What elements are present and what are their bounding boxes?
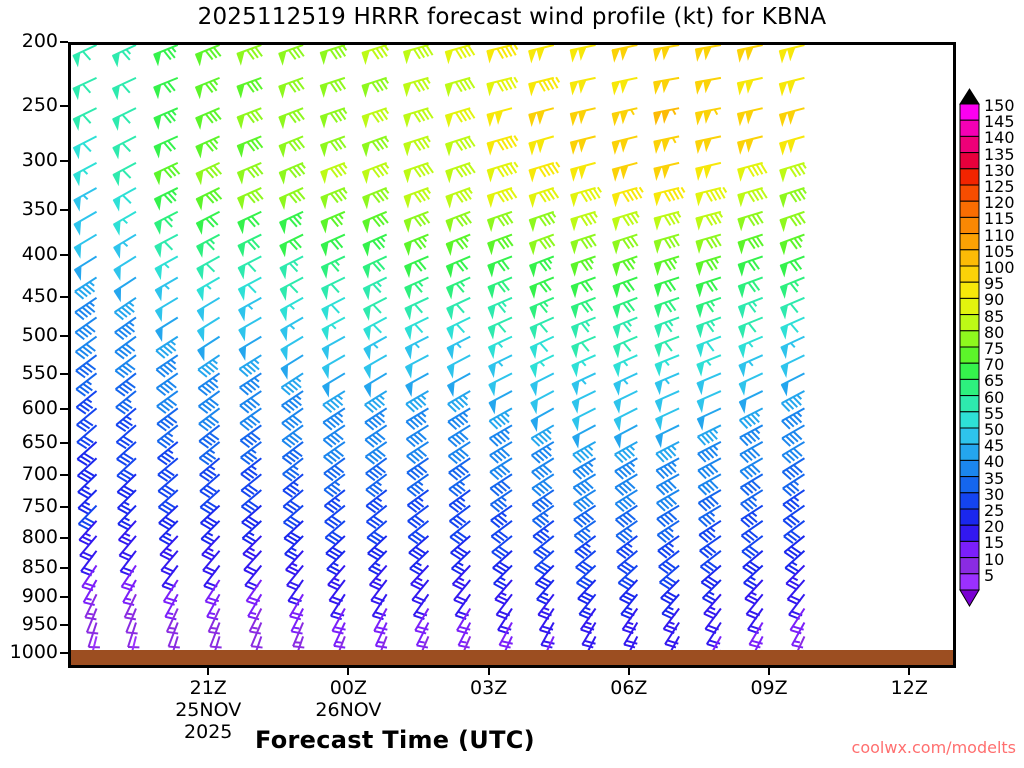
colorbar-under-arrow — [960, 590, 979, 606]
wind-barb — [239, 277, 262, 299]
colorbar-swatch — [960, 396, 979, 412]
wind-barb — [487, 188, 516, 206]
y-tick-mark — [60, 624, 68, 626]
wind-barb — [572, 391, 595, 412]
wind-barb — [529, 136, 554, 154]
y-tick-mark — [60, 567, 68, 569]
wind-barb — [196, 163, 221, 184]
wind-barb — [570, 78, 595, 94]
x-tick-label: 21Z — [190, 677, 227, 699]
wind-barb — [363, 188, 389, 208]
wind-barb — [237, 108, 262, 127]
wind-barb — [320, 45, 346, 63]
wind-barb — [238, 235, 261, 256]
wind-barb — [780, 188, 806, 206]
wind-barb — [612, 136, 637, 153]
wind-barb — [529, 45, 554, 62]
wind-barb — [239, 298, 262, 320]
wind-barb — [696, 256, 721, 274]
wind-barb — [655, 355, 679, 375]
wind-barb — [779, 45, 804, 62]
wind-barb — [237, 136, 262, 156]
y-tick-label: 600 — [22, 397, 58, 419]
colorbar-swatch — [960, 477, 979, 493]
wind-barb — [197, 256, 220, 278]
wind-barb — [613, 317, 637, 337]
wind-barb — [705, 608, 721, 633]
wind-barb — [238, 256, 261, 277]
wind-barb — [780, 256, 804, 275]
wind-barb — [156, 298, 178, 321]
y-tick-mark — [60, 105, 68, 107]
wind-barb — [737, 78, 762, 94]
y-tick-mark — [60, 408, 68, 410]
wind-barb — [362, 78, 388, 96]
wind-barb — [571, 163, 596, 180]
wind-barb — [405, 337, 428, 358]
wind-barb — [613, 235, 638, 253]
colorbar-swatch — [960, 574, 979, 590]
wind-profile-chart: 2025112519 HRRR forecast wind profile (k… — [0, 0, 1024, 768]
wind-barb — [74, 136, 97, 157]
wind-barb — [76, 337, 97, 359]
wind-barb — [655, 337, 679, 356]
x-axis-label: Forecast Time (UTC) — [0, 726, 790, 754]
colorbar-swatch — [960, 363, 979, 379]
wind-barb — [572, 317, 596, 337]
y-tick-label: 800 — [22, 526, 58, 548]
wind-barb — [364, 317, 387, 339]
wind-barb — [279, 136, 304, 156]
wind-barb — [613, 256, 637, 275]
wind-barb — [654, 212, 680, 229]
wind-barb — [363, 277, 386, 298]
wind-barb — [738, 256, 762, 275]
wind-barb — [406, 355, 429, 377]
wind-barb — [447, 355, 470, 377]
wind-barb-field — [71, 45, 953, 665]
wind-barb — [655, 317, 679, 336]
wind-barb — [281, 337, 303, 360]
wind-barb — [445, 78, 474, 96]
wind-barb — [530, 277, 554, 297]
wind-barb — [155, 277, 177, 299]
wind-barb — [198, 317, 220, 340]
wind-barb — [531, 373, 554, 394]
colorbar-swatch — [960, 460, 979, 476]
wind-barb — [571, 256, 595, 275]
wind-barb — [738, 163, 767, 180]
wind-barb — [405, 277, 429, 297]
wind-barb — [487, 136, 517, 154]
wind-barb — [404, 108, 433, 126]
wind-barb — [488, 256, 512, 275]
wind-barb — [487, 162, 517, 181]
x-tick-mark — [347, 668, 349, 675]
x-tick-label: 09Z — [750, 677, 787, 699]
wind-barb — [279, 108, 304, 127]
colorbar-swatch — [960, 331, 979, 347]
wind-barb — [320, 108, 346, 127]
wind-barb — [448, 391, 470, 412]
wind-barb — [198, 355, 219, 377]
wind-barb — [654, 256, 679, 274]
y-tick-label: 700 — [22, 463, 58, 485]
wind-barb — [196, 188, 221, 209]
wind-barb — [154, 163, 179, 184]
wind-barb — [571, 298, 595, 317]
wind-barb — [362, 45, 388, 63]
wind-barb — [612, 163, 637, 180]
y-tick-mark — [60, 160, 68, 162]
wind-barb — [489, 355, 512, 376]
wind-barb — [239, 317, 261, 339]
colorbar-swatch — [960, 315, 979, 331]
colorbar-swatch — [960, 153, 979, 169]
wind-barb — [198, 373, 219, 395]
wind-barb — [405, 235, 429, 255]
y-tick-label: 500 — [22, 324, 58, 346]
y-tick-label: 1000 — [10, 641, 58, 663]
wind-barb — [363, 256, 386, 277]
wind-barb — [654, 163, 679, 179]
wind-barb — [571, 235, 596, 253]
wind-barb — [446, 256, 470, 276]
y-tick-label: 450 — [22, 285, 58, 307]
y-tick-mark — [60, 652, 68, 654]
wind-barb — [489, 373, 512, 394]
wind-barb — [738, 108, 763, 124]
wind-barb — [114, 235, 136, 258]
y-tick-label: 750 — [22, 495, 58, 517]
colorbar-swatch — [960, 444, 979, 460]
x-tick-mark — [768, 668, 770, 675]
wind-barb — [698, 442, 721, 462]
y-tick-mark — [60, 596, 68, 598]
wind-barb — [155, 212, 178, 233]
wind-barb — [76, 355, 97, 377]
wind-barb — [571, 212, 597, 230]
wind-barb — [738, 212, 763, 230]
y-tick-mark — [60, 335, 68, 337]
wind-barb — [738, 136, 763, 153]
colorbar-tick-label: 5 — [984, 566, 994, 585]
wind-barb — [655, 277, 680, 295]
colorbar-swatch — [960, 266, 979, 282]
x-tick-mark — [628, 668, 630, 675]
wind-barb — [154, 108, 178, 128]
wind-barb — [280, 212, 303, 233]
wind-barb — [323, 391, 345, 412]
wind-barb — [697, 337, 721, 356]
wind-barb — [529, 188, 558, 206]
x-tick-label: 00Z — [330, 677, 367, 699]
wind-barb — [697, 355, 721, 375]
y-tick-label: 400 — [22, 243, 58, 265]
wind-barb — [489, 337, 512, 358]
wind-barb — [487, 77, 517, 94]
colorbar-swatch — [960, 120, 979, 136]
wind-barb — [447, 337, 470, 358]
wind-barb — [404, 212, 429, 231]
y-tick-mark — [60, 209, 68, 211]
wind-barb — [406, 391, 428, 412]
x-tick-label: 03Z — [470, 677, 507, 699]
y-tick-mark — [60, 254, 68, 256]
wind-barb — [280, 188, 305, 208]
y-tick-label: 850 — [22, 556, 58, 578]
wind-barb — [404, 78, 430, 96]
wind-barb — [114, 212, 136, 234]
terrain-band — [71, 650, 953, 665]
wind-barb — [572, 337, 596, 357]
colorbar-swatch — [960, 217, 979, 233]
wind-barb — [157, 373, 178, 395]
wind-barb — [363, 163, 389, 182]
wind-barb — [405, 317, 428, 338]
wind-barb — [654, 45, 679, 60]
wind-barb — [487, 108, 512, 125]
wind-barb — [529, 162, 559, 181]
wind-barb — [737, 45, 762, 61]
wind-barb — [365, 391, 387, 412]
wind-barb — [113, 163, 136, 185]
wind-barb — [321, 136, 346, 155]
y-tick-label: 900 — [22, 585, 58, 607]
wind-barb — [280, 235, 303, 256]
wind-barb — [740, 425, 763, 445]
y-tick-mark — [60, 474, 68, 476]
colorbar-swatch — [960, 428, 979, 444]
wind-barb — [529, 212, 555, 231]
colorbar-swatch — [960, 282, 979, 298]
wind-barb — [115, 317, 136, 339]
wind-barb — [74, 188, 97, 210]
y-tick-mark — [60, 506, 68, 508]
wind-barb — [405, 256, 429, 276]
wind-barb — [697, 391, 721, 411]
wind-barb — [613, 277, 637, 296]
wind-barb — [113, 108, 136, 129]
wind-barb — [113, 78, 136, 99]
wind-barb — [239, 355, 261, 376]
x-tick-sublabel: 25NOV — [175, 699, 241, 721]
wind-barb — [446, 163, 475, 182]
colorbar-swatches — [958, 88, 984, 610]
wind-barb — [654, 187, 684, 204]
wind-barb — [74, 235, 96, 258]
wind-barb — [364, 337, 387, 359]
wind-barb — [530, 256, 554, 275]
wind-barb — [238, 188, 263, 208]
colorbar-swatch — [960, 234, 979, 250]
wind-barb — [114, 256, 136, 279]
y-tick-mark — [60, 442, 68, 444]
wind-barb — [781, 277, 805, 297]
x-tick-mark — [488, 668, 490, 675]
wind-barb — [488, 317, 512, 337]
wind-barb — [529, 77, 559, 94]
wind-barb — [156, 337, 178, 358]
wind-barb — [238, 212, 261, 233]
wind-barb — [74, 212, 96, 234]
wind-barb — [739, 373, 762, 394]
wind-barb — [780, 136, 805, 154]
wind-barb — [664, 608, 680, 633]
wind-barb — [570, 108, 595, 124]
wind-barb — [75, 256, 97, 279]
wind-barb — [489, 408, 512, 428]
wind-barb — [696, 277, 721, 295]
colorbar-swatch — [960, 298, 979, 314]
wind-barb — [321, 256, 344, 277]
wind-barb — [405, 298, 428, 319]
wind-barb — [530, 235, 555, 254]
wind-barb — [781, 355, 804, 376]
wind-barb — [780, 235, 804, 254]
wind-barb — [739, 317, 763, 337]
wind-barb — [115, 337, 136, 359]
y-tick-label: 950 — [22, 613, 58, 635]
wind-barb — [362, 108, 388, 127]
x-tick-sublabel: 26NOV — [315, 699, 381, 721]
wind-barb — [362, 136, 388, 155]
wind-barb — [281, 298, 304, 320]
wind-barb — [696, 212, 722, 229]
colorbar-swatch — [960, 201, 979, 217]
wind-barb — [780, 163, 806, 181]
wind-barb — [570, 45, 595, 61]
wind-barb — [115, 298, 136, 320]
x-tick-label: 12Z — [891, 677, 928, 699]
y-tick-mark — [60, 41, 68, 43]
wind-barb — [738, 188, 767, 206]
x-tick-mark — [207, 668, 209, 675]
wind-barb — [196, 108, 221, 128]
wind-barb — [280, 256, 303, 277]
wind-barb — [529, 108, 554, 125]
colorbar-swatch — [960, 558, 979, 574]
wind-barb — [197, 235, 220, 257]
wind-barb — [154, 136, 178, 156]
colorbar-swatch — [960, 185, 979, 201]
colorbar-swatch — [960, 347, 979, 363]
wind-barb — [488, 235, 513, 254]
colorbar-over-arrow — [960, 89, 979, 104]
speed-colorbar: 1501451401351301251201151101051009590858… — [958, 88, 1024, 658]
wind-barb — [321, 163, 347, 182]
wind-barb — [446, 108, 475, 126]
wind-barb — [695, 78, 720, 93]
wind-barb — [740, 408, 763, 428]
wind-barb — [113, 188, 136, 210]
wind-barb — [75, 317, 96, 339]
wind-barb — [695, 45, 720, 60]
wind-barb — [446, 235, 470, 255]
wind-barb — [404, 188, 430, 207]
wind-barb — [782, 408, 805, 428]
wind-barb — [781, 337, 804, 358]
wind-barb — [572, 373, 595, 394]
wind-barb — [779, 78, 804, 95]
wind-barb — [196, 136, 220, 156]
colorbar-swatch — [960, 169, 979, 185]
wind-barb — [655, 373, 679, 393]
wind-barb — [654, 108, 679, 124]
colorbar-swatch — [960, 250, 979, 266]
wind-barb — [614, 391, 637, 412]
wind-barb — [613, 187, 643, 205]
wind-barb — [75, 298, 96, 320]
wind-barb — [197, 212, 220, 233]
wind-barb — [322, 277, 345, 298]
wind-barb — [738, 277, 762, 296]
y-tick-label: 550 — [22, 362, 58, 384]
wind-barb — [613, 212, 639, 230]
colorbar-swatch — [960, 136, 979, 152]
wind-barb — [656, 391, 680, 411]
wind-barb — [322, 298, 345, 319]
wind-barb — [404, 45, 433, 63]
wind-barb — [655, 298, 679, 317]
y-tick-label: 200 — [22, 30, 58, 52]
wind-barb — [446, 136, 475, 154]
wind-barb — [696, 235, 721, 253]
wind-barb — [739, 355, 763, 375]
colorbar-swatch — [960, 412, 979, 428]
wind-barb — [780, 212, 805, 231]
wind-barb — [196, 78, 220, 98]
wind-barb — [488, 298, 512, 318]
wind-barb — [739, 298, 763, 317]
wind-barb — [487, 45, 517, 62]
wind-barb — [321, 235, 345, 255]
wind-barb — [363, 212, 388, 232]
wind-barb — [156, 317, 178, 340]
y-tick-label: 250 — [22, 94, 58, 116]
wind-barb — [781, 298, 805, 318]
wind-barb — [530, 298, 554, 318]
wind-barb — [321, 212, 345, 232]
wind-barb — [696, 136, 721, 152]
wind-barb — [280, 277, 303, 299]
wind-barb — [404, 163, 433, 182]
y-tick-label: 650 — [22, 431, 58, 453]
wind-barb — [445, 45, 474, 63]
wind-barb — [279, 78, 304, 97]
wind-barb — [73, 108, 96, 129]
colorbar-swatch — [960, 509, 979, 525]
wind-barb — [74, 163, 97, 185]
wind-barb — [115, 355, 136, 377]
source-credit: coolwx.com/modelts — [852, 738, 1016, 757]
wind-barb — [322, 317, 345, 339]
wind-barb — [654, 78, 679, 93]
wind-barb — [239, 337, 261, 360]
wind-barb — [73, 45, 96, 66]
wind-barb — [447, 277, 471, 297]
wind-barb — [323, 355, 345, 377]
wind-barb — [321, 188, 347, 208]
wind-barb — [696, 298, 720, 317]
wind-barb — [406, 408, 428, 429]
colorbar-swatch — [960, 541, 979, 557]
y-tick-mark — [60, 373, 68, 375]
wind-barb — [196, 45, 221, 65]
x-tick-label: 06Z — [610, 677, 647, 699]
wind-barb — [572, 355, 596, 375]
wind-barb — [237, 45, 262, 64]
